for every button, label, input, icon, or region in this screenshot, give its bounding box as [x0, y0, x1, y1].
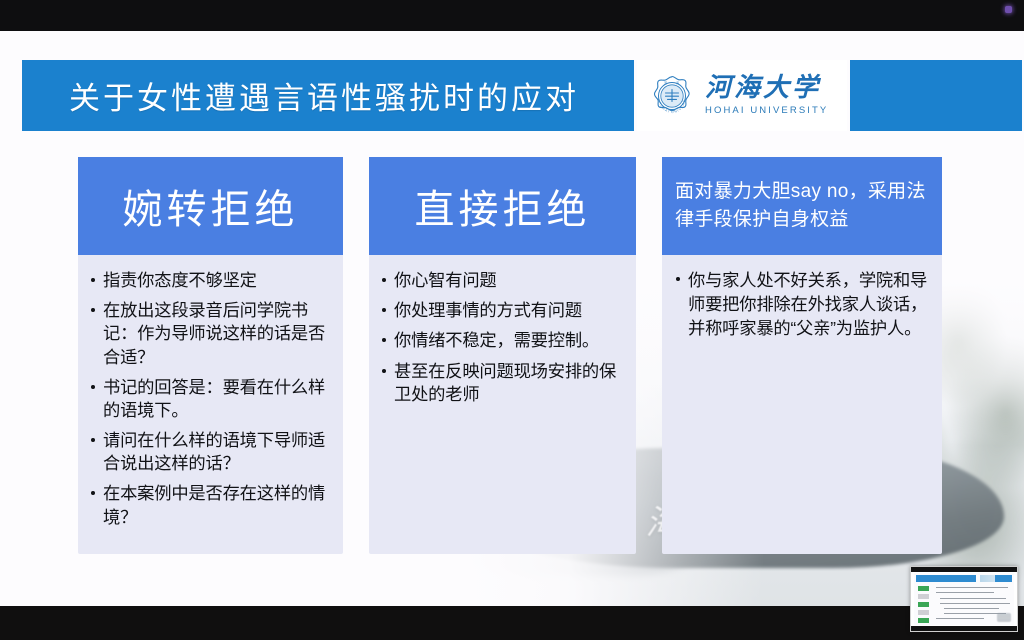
- pip-sidebar-chip: [918, 610, 929, 615]
- card-legal-means: 面对暴力大胆say no，采用法律手段保护自身权益 你与家人处不好关系，学院和导…: [662, 157, 942, 554]
- pip-text-line: [940, 603, 1010, 604]
- list-item: 你与家人处不好关系，学院和导师要把你排除在外找家人谈话，并称呼家暴的“父亲”为监…: [669, 268, 931, 341]
- list-item: 甚至在反映问题现场安排的保卫处的老师: [375, 360, 627, 406]
- list-item: 在本案例中是否存在这样的情境？: [84, 482, 334, 528]
- list-item: 在放出这段录音后问学院书记：作为导师说这样的话是否合适？: [84, 299, 334, 369]
- pip-sidebar-chip: [918, 586, 929, 591]
- list-item: 你处理事情的方式有问题: [375, 299, 627, 322]
- bullet-list: 你与家人处不好关系，学院和导师要把你排除在外找家人谈话，并称呼家暴的“父亲”为监…: [669, 268, 931, 341]
- pip-slide-content: [914, 573, 1014, 625]
- card-legal-means-body: 你与家人处不好关系，学院和导师要把你排除在外找家人谈话，并称呼家暴的“父亲”为监…: [662, 255, 942, 358]
- pip-watermark: [997, 613, 1011, 622]
- pip-text-line: [936, 618, 984, 619]
- pip-top-bar: [911, 567, 1017, 572]
- pip-sidebar-chip: [918, 618, 929, 623]
- video-player-screen: 河 海 大 关于女性遭遇言语性骚扰时的应对: [0, 0, 1024, 640]
- bullet-list: 指责你态度不够坚定 在放出这段录音后问学院书记：作为导师说这样的话是否合适？ 书…: [84, 269, 334, 529]
- list-item: 指责你态度不够坚定: [84, 269, 334, 292]
- list-item: 你心智有问题: [375, 269, 627, 292]
- card-polite-refusal-heading: 婉转拒绝: [78, 157, 343, 255]
- content-cards: 婉转拒绝 指责你态度不够坚定 在放出这段录音后问学院书记：作为导师说这样的话是否…: [0, 31, 1024, 606]
- pip-text-line: [936, 592, 994, 593]
- card-direct-refusal-body: 你心智有问题 你处理事情的方式有问题 你情绪不稳定，需要控制。 甚至在反映问题现…: [369, 255, 636, 423]
- pip-header-bar: [916, 575, 976, 582]
- card-direct-refusal: 直接拒绝 你心智有问题 你处理事情的方式有问题 你情绪不稳定，需要控制。 甚至在…: [369, 157, 636, 554]
- card-polite-refusal: 婉转拒绝 指责你态度不够坚定 在放出这段录音后问学院书记：作为导师说这样的话是否…: [78, 157, 343, 554]
- presentation-slide: 河 海 大 关于女性遭遇言语性骚扰时的应对: [0, 31, 1024, 606]
- letterbox-top-bar: [0, 0, 1024, 31]
- list-item: 书记的回答是：要看在什么样的语境下。: [84, 376, 334, 422]
- pip-slide-thumbnail[interactable]: [910, 566, 1018, 632]
- letterbox-bottom-bar: [0, 606, 1024, 640]
- bullet-list: 你心智有问题 你处理事情的方式有问题 你情绪不稳定，需要控制。 甚至在反映问题现…: [375, 269, 627, 406]
- list-item: 请问在什么样的语境下导师适合说出这样的话？: [84, 429, 334, 475]
- pip-text-line: [944, 608, 999, 609]
- pip-header-bar-right: [995, 575, 1012, 582]
- recording-indicator-dot: [1005, 6, 1012, 13]
- pip-bottom-bar: [911, 626, 1017, 631]
- pip-text-line: [936, 587, 1008, 588]
- card-polite-refusal-body: 指责你态度不够坚定 在放出这段录音后问学院书记：作为导师说这样的话是否合适？ 书…: [78, 255, 343, 546]
- pip-sidebar-chip: [918, 602, 929, 607]
- card-legal-means-heading: 面对暴力大胆say no，采用法律手段保护自身权益: [662, 157, 942, 255]
- card-direct-refusal-heading: 直接拒绝: [369, 157, 636, 255]
- pip-text-line: [940, 598, 1006, 599]
- list-item: 你情绪不稳定，需要控制。: [375, 329, 627, 352]
- pip-sidebar-chip: [918, 594, 929, 599]
